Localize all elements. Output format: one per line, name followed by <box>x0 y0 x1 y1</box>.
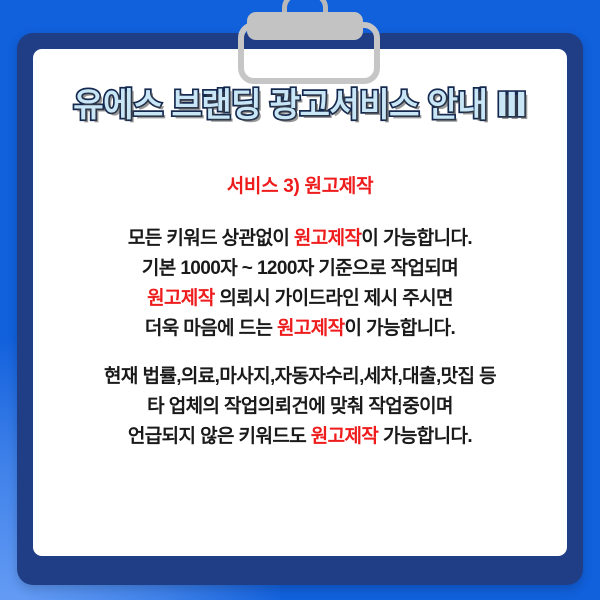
highlight-keyword: 원고제작 <box>311 426 379 447</box>
paragraph-2: 현재 법률,의료,마사지,자동자수리,세차,대출,맛집 등타 업체의 작업의뢰건… <box>33 362 567 452</box>
body-line: 언급되지 않은 키워드도 원고제작 가능합니다. <box>33 422 567 452</box>
section-subtitle: 서비스 3) 원고제작 <box>33 171 567 198</box>
body-text: 의뢰시 가이드라인 제시 주시면 <box>215 288 453 309</box>
body-text: 이 가능합니다. <box>361 228 472 249</box>
highlight-keyword: 원고제작 <box>277 318 345 339</box>
body-line: 타 업체의 작업의뢰건에 맞춰 작업중이며 <box>33 392 567 422</box>
body-text: 언급되지 않은 키워드도 <box>128 426 311 447</box>
clipboard-clip-bar-icon <box>247 12 363 40</box>
body-text: 타 업체의 작업의뢰건에 맞춰 작업중이며 <box>147 396 453 417</box>
poster-content: 유에스 브랜딩 광고서비스 안내 Ⅲ 서비스 3) 원고제작 모든 키워드 상관… <box>33 49 567 556</box>
body-text: 가능합니다. <box>378 426 472 447</box>
body-text: 모든 키워드 상관없이 <box>128 228 294 249</box>
body-text: 기본 1000자 ~ 1200자 기준으로 작업되며 <box>142 258 458 279</box>
highlight-keyword: 원고제작 <box>147 288 215 309</box>
body-line: 기본 1000자 ~ 1200자 기준으로 작업되며 <box>33 254 567 284</box>
paragraph-1: 모든 키워드 상관없이 원고제작이 가능합니다.기본 1000자 ~ 1200자… <box>33 224 567 344</box>
poster-canvas: 유에스 브랜딩 광고서비스 안내 Ⅲ 서비스 3) 원고제작 모든 키워드 상관… <box>0 0 600 600</box>
body-text: 이 가능합니다. <box>345 318 456 339</box>
body-line: 현재 법률,의료,마사지,자동자수리,세차,대출,맛집 등 <box>33 362 567 392</box>
body-text: 더욱 마음에 드는 <box>145 318 277 339</box>
body-line: 더욱 마음에 드는 원고제작이 가능합니다. <box>33 314 567 344</box>
page-title: 유에스 브랜딩 광고서비스 안내 Ⅲ <box>33 78 567 126</box>
highlight-keyword: 원고제작 <box>294 228 362 249</box>
body-text: 현재 법률,의료,마사지,자동자수리,세차,대출,맛집 등 <box>104 366 496 387</box>
body-line: 원고제작 의뢰시 가이드라인 제시 주시면 <box>33 284 567 314</box>
body-line: 모든 키워드 상관없이 원고제작이 가능합니다. <box>33 224 567 254</box>
